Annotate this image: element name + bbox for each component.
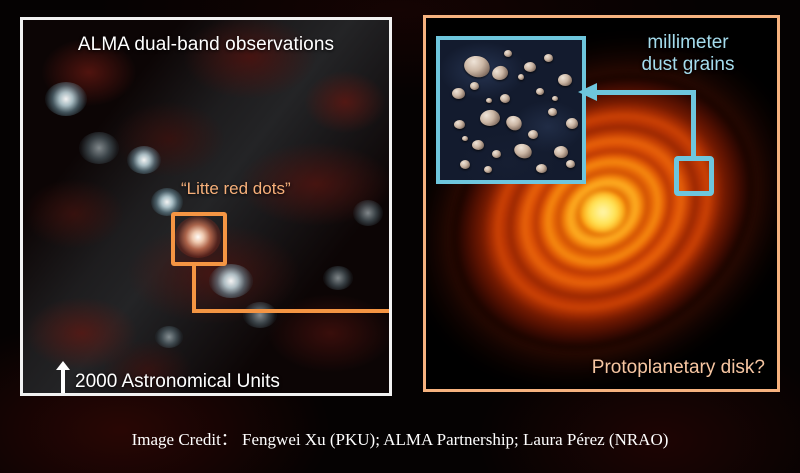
- dust-grain: [504, 50, 512, 57]
- dust-grain-inset-image: [436, 36, 586, 184]
- alma-dust-field-image: [23, 20, 389, 393]
- dust-grain-region-box: [674, 156, 714, 196]
- dust-grain: [500, 94, 510, 103]
- millimeter-dust-grains-label: millimeter dust grains: [604, 32, 772, 77]
- dust-grain-callout-vertical-segment: [691, 90, 696, 160]
- grain-label-line-2: dust grains: [604, 54, 772, 76]
- arrow-shaft: [61, 368, 65, 396]
- connector-vertical-segment: [192, 266, 196, 313]
- dust-grain: [486, 98, 492, 103]
- dust-grain: [462, 136, 468, 141]
- dust-grain: [492, 150, 501, 158]
- little-red-dots-label: “Litte red dots”: [181, 179, 291, 199]
- dust-grain: [452, 88, 465, 99]
- scale-bar-arrow-icon: [56, 361, 70, 396]
- protoplanetary-disk-label: Protoplanetary disk?: [592, 357, 765, 379]
- dust-grain: [566, 118, 578, 129]
- astronomy-figure: ALMA dual-band observations “Litte red d…: [0, 0, 800, 473]
- dust-grain: [566, 160, 575, 168]
- grain-label-line-1: millimeter: [604, 32, 772, 54]
- dust-grain: [552, 96, 558, 101]
- dust-grain: [518, 74, 524, 80]
- dust-grain: [460, 160, 470, 169]
- dust-grain: [528, 130, 538, 139]
- dust-grain: [558, 74, 572, 86]
- dust-grain-inset-background: [440, 40, 582, 180]
- disk-central-star: [580, 191, 626, 233]
- left-panel-title: ALMA dual-band observations: [23, 34, 389, 56]
- connector-horizontal-segment: [192, 309, 392, 313]
- right-panel-protoplanetary-disk: millimeter dust grains Protoplanetary di…: [423, 15, 780, 392]
- little-red-dot-highlight-box: [171, 212, 227, 266]
- dust-grain-callout-horizontal-segment: [596, 90, 696, 95]
- dust-grain: [472, 140, 484, 150]
- dust-grain: [470, 82, 479, 90]
- scale-bar-label: 2000 Astronomical Units: [75, 371, 280, 393]
- dust-grain: [484, 166, 492, 173]
- dust-grain: [554, 146, 568, 158]
- dust-grain-callout-arrowhead-icon: [578, 83, 597, 101]
- dust-grain: [536, 88, 544, 95]
- left-panel-alma-observation: ALMA dual-band observations “Litte red d…: [20, 17, 392, 396]
- dust-grain: [524, 62, 536, 72]
- dust-grain: [548, 108, 557, 116]
- dust-grain: [536, 164, 547, 173]
- dust-grain: [544, 54, 553, 62]
- image-credit: Image Credit： Fengwei Xu (PKU); ALMA Par…: [0, 425, 800, 450]
- dust-grain: [454, 120, 465, 129]
